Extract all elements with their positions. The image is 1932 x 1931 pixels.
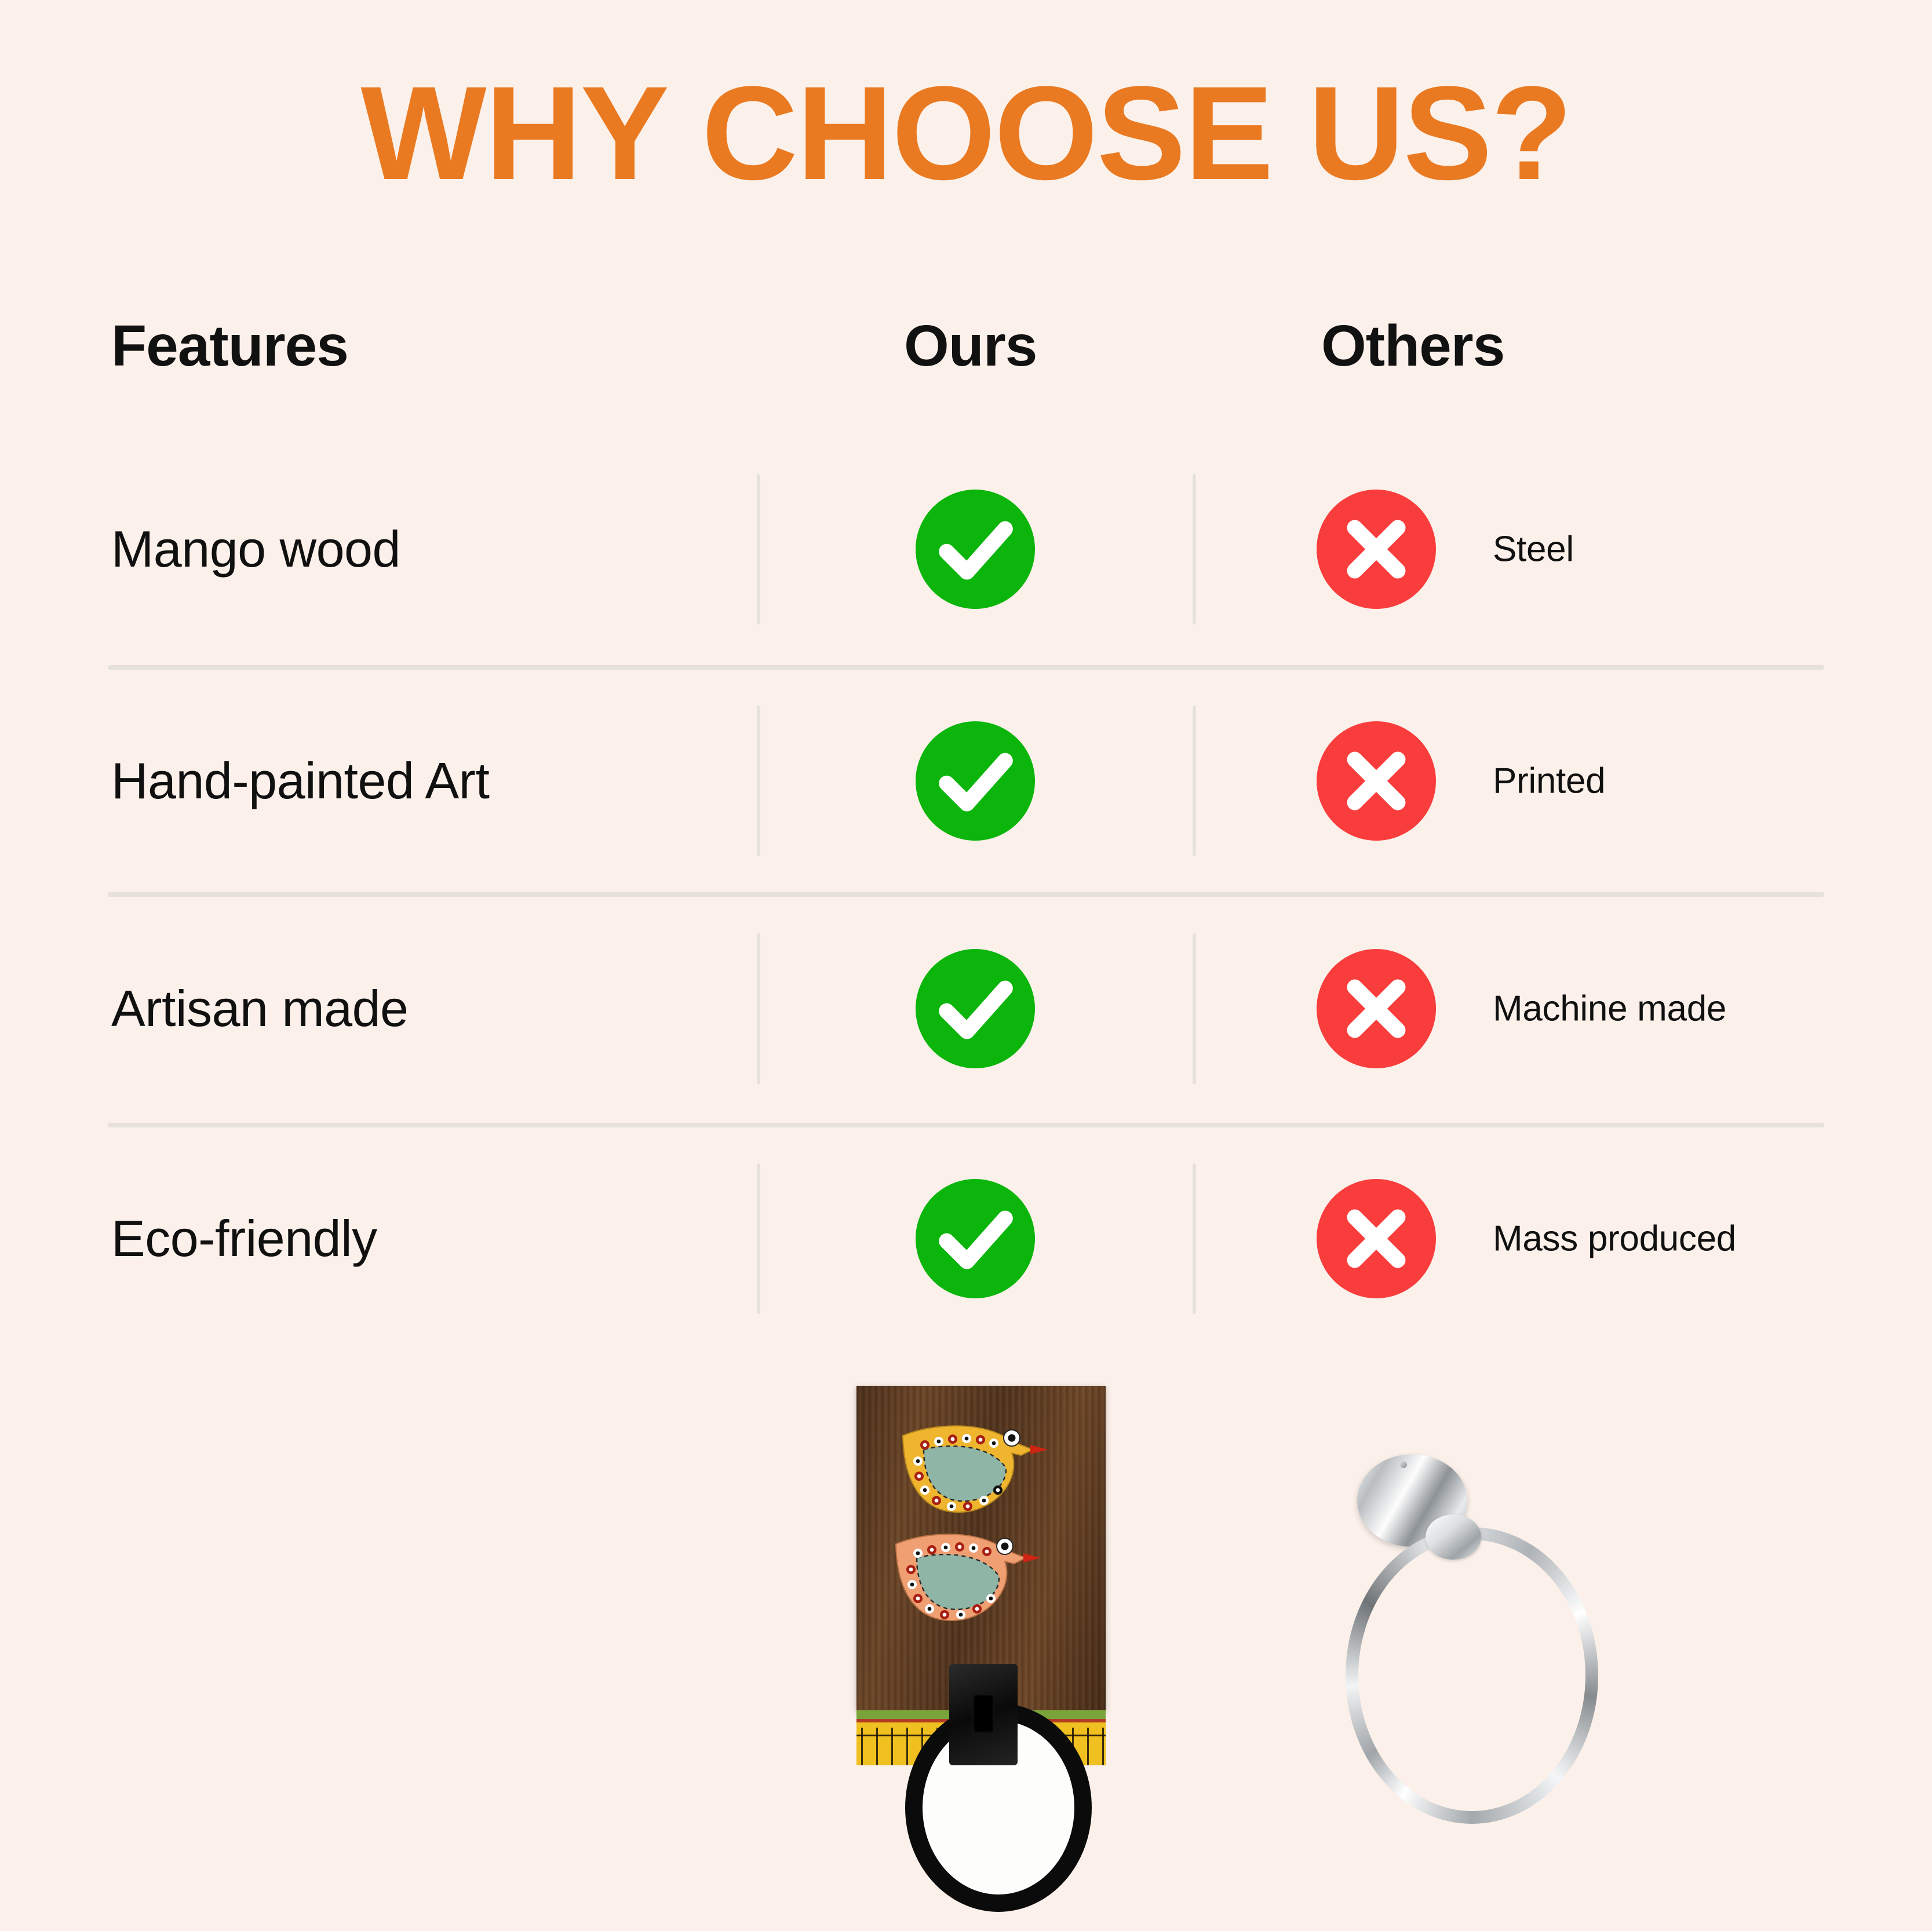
column-divider xyxy=(757,933,760,1084)
column-divider xyxy=(757,474,760,625)
iron-mount-plate xyxy=(949,1664,1018,1765)
chrome-towel-ring-image xyxy=(1339,1454,1582,1860)
column-divider xyxy=(1193,933,1196,1084)
table-row: Mango wood Steel xyxy=(0,437,1932,660)
why-choose-us-infographic: WHY CHOOSE US? Features Ours Others Mang… xyxy=(0,0,1932,1931)
cross-circle-icon xyxy=(1317,949,1436,1068)
black-iron-ring-assembly xyxy=(884,1693,1078,1913)
page-title: WHY CHOOSE US? xyxy=(0,67,1932,200)
table-row: Artisan made Machine made xyxy=(0,897,1932,1120)
cross-circle-icon xyxy=(1317,490,1436,609)
column-header-features: Features xyxy=(111,313,348,379)
column-divider xyxy=(757,706,760,856)
painted-bird-yellow xyxy=(898,1419,1049,1517)
wooden-bird-towel-ring-image xyxy=(856,1386,1106,1913)
table-row: Hand-painted Art Printed xyxy=(0,669,1932,892)
others-value-label: Machine made xyxy=(1493,988,1726,1029)
chrome-knob xyxy=(1426,1514,1481,1560)
others-value-label: Printed xyxy=(1493,760,1605,801)
check-circle-icon xyxy=(916,1179,1035,1298)
painted-bird-peach xyxy=(891,1528,1042,1625)
cross-circle-icon xyxy=(1317,1179,1436,1298)
product-comparison-images xyxy=(0,1350,1932,1931)
check-circle-icon xyxy=(916,490,1035,609)
row-divider xyxy=(108,892,1824,897)
column-divider xyxy=(1193,1163,1196,1314)
column-divider xyxy=(757,1163,760,1314)
others-value-label: Mass produced xyxy=(1493,1218,1736,1259)
chrome-ring xyxy=(1346,1527,1598,1824)
feature-label: Mango wood xyxy=(111,520,400,579)
feature-label: Eco-friendly xyxy=(111,1209,377,1268)
cross-circle-icon xyxy=(1317,721,1436,841)
column-divider xyxy=(1193,706,1196,856)
feature-label: Hand-painted Art xyxy=(111,751,489,811)
feature-label: Artisan made xyxy=(111,979,408,1038)
check-circle-icon xyxy=(916,721,1035,841)
column-divider xyxy=(1193,474,1196,625)
column-header-others: Others xyxy=(1321,313,1504,379)
check-circle-icon xyxy=(916,949,1035,1068)
column-header-ours: Ours xyxy=(904,313,1037,379)
table-row: Eco-friendly Mass produced xyxy=(0,1127,1932,1350)
others-value-label: Steel xyxy=(1493,528,1574,570)
